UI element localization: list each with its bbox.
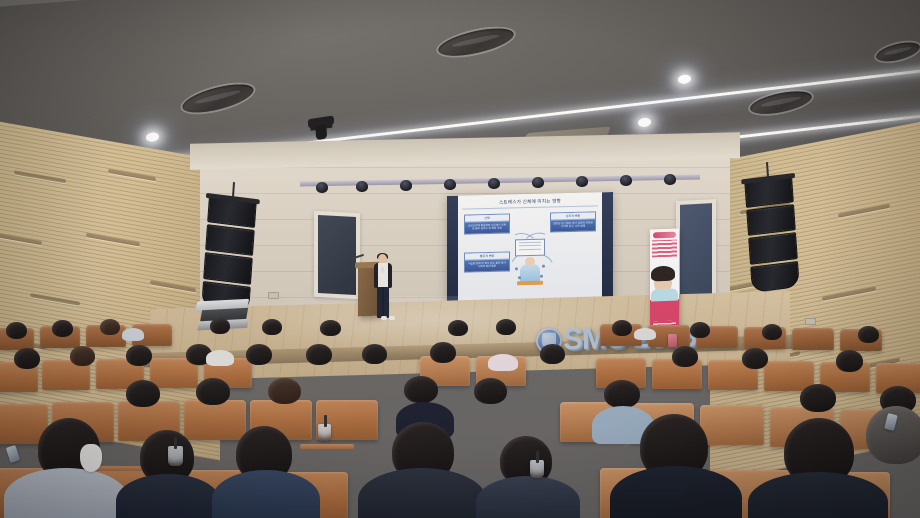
audience-head	[52, 320, 73, 337]
spotlight-icon	[620, 175, 632, 186]
audience-head	[800, 384, 836, 412]
audience-head	[836, 350, 863, 372]
slide-center-card	[515, 239, 545, 257]
seat[interactable]	[700, 405, 764, 445]
audience-head	[430, 342, 456, 363]
presentation-slide: 스트레스가 신체에 미치는 영향 신체 교감신경계 활성화로 스트레스 호르몬 …	[458, 192, 602, 308]
audience-head	[246, 344, 272, 365]
spotlight-icon	[664, 174, 676, 185]
spotlight-icon	[400, 180, 412, 191]
audience-head	[196, 378, 230, 405]
line-array-speaker-icon	[744, 175, 800, 293]
audience-head	[262, 319, 282, 335]
screen-border-right	[602, 192, 613, 304]
face-mask-icon	[80, 444, 102, 472]
audience-head	[362, 344, 387, 364]
audience-head	[126, 380, 160, 407]
cap-icon	[122, 328, 144, 341]
audience-head	[210, 318, 230, 334]
spotlight-icon	[532, 177, 544, 188]
audience-seating	[0, 318, 920, 518]
slide-title: 스트레스가 신체에 미치는 영향	[462, 197, 598, 209]
wall-display-panel-right	[676, 199, 716, 301]
seat[interactable]	[184, 400, 246, 440]
audience-head	[70, 346, 95, 366]
audience-head	[448, 320, 468, 336]
spotlight-icon	[444, 179, 456, 190]
slide-box: 행동적 변화 식습관 변화 및 폭식 음주·흡연 증가 사회적 회피 행동	[464, 251, 510, 272]
smartphone-icon[interactable]	[6, 445, 20, 463]
audience-head	[672, 346, 698, 367]
presenter	[372, 254, 394, 324]
banner-headline	[652, 240, 677, 258]
audience-head	[474, 378, 507, 404]
audience-head	[126, 345, 152, 366]
audience-head	[404, 376, 438, 403]
cap-icon	[206, 350, 234, 366]
slide-box-body: 불안감 및 긴장감 증가 집중력 저하와 기억력 감소, 수면 장애	[551, 219, 595, 231]
audience-head	[496, 319, 516, 335]
slide-box: 심리적 변화 불안감 및 긴장감 증가 집중력 저하와 기억력 감소, 수면 장…	[550, 211, 596, 232]
audience-head	[540, 344, 565, 364]
projection-screen[interactable]: 스트레스가 신체에 미치는 영향 신체 교감신경계 활성화로 스트레스 호르몬 …	[447, 192, 613, 308]
slide-box-body: 교감신경계 활성화로 스트레스 호르몬 분비 심박수 및 혈압 상승	[465, 222, 509, 234]
cap-icon	[488, 354, 518, 371]
seat-tray[interactable]	[300, 444, 354, 449]
audience-head	[6, 322, 27, 339]
slide-box-body: 식습관 변화 및 폭식 음주·흡연 증가 사회적 회피 행동	[465, 260, 509, 272]
slide-illustration	[513, 255, 547, 286]
wall-fixture	[268, 292, 279, 299]
audience-head	[742, 348, 768, 369]
slide-box: 신체 교감신경계 활성화로 스트레스 호르몬 분비 심박수 및 혈압 상승	[464, 213, 510, 234]
seat[interactable]	[792, 328, 834, 350]
iced-coffee-cup-icon[interactable]	[318, 424, 331, 441]
audience-head	[762, 324, 782, 340]
line-array-speaker-icon	[201, 195, 257, 313]
cap-icon	[634, 328, 656, 340]
iced-coffee-cup-icon[interactable]	[530, 460, 544, 478]
banner-portrait-body	[651, 289, 678, 302]
slide-diagram: 신체 교감신경계 활성화로 스트레스 호르몬 분비 심박수 및 혈압 상승 심리…	[462, 209, 598, 288]
auditorium-photo: 스트레스가 신체에 미치는 영향 신체 교감신경계 활성화로 스트레스 호르몬 …	[0, 0, 920, 518]
spotlight-icon	[316, 182, 328, 193]
audience-head	[858, 326, 879, 343]
audience-shoulders	[358, 468, 486, 518]
audience-head	[320, 320, 341, 336]
spotlight-icon	[488, 178, 500, 189]
banner-header-bar	[653, 232, 676, 239]
screen-border-left	[447, 196, 458, 308]
audience-head	[690, 322, 710, 338]
audience-head	[268, 378, 301, 404]
spotlight-icon	[576, 176, 588, 187]
iced-coffee-cup-icon[interactable]	[168, 446, 183, 466]
audience-head	[612, 320, 632, 336]
audience-shoulders	[476, 476, 580, 518]
audience-head	[306, 344, 332, 365]
audience-head	[14, 348, 40, 369]
handheld-microphone-icon	[381, 267, 384, 273]
presenter-legs	[377, 287, 389, 318]
spotlight-icon	[356, 181, 368, 192]
wall-display-panel-left	[314, 211, 360, 299]
smartphone-icon[interactable]	[668, 334, 677, 347]
audience-head	[100, 319, 120, 335]
audience-head	[604, 380, 640, 408]
